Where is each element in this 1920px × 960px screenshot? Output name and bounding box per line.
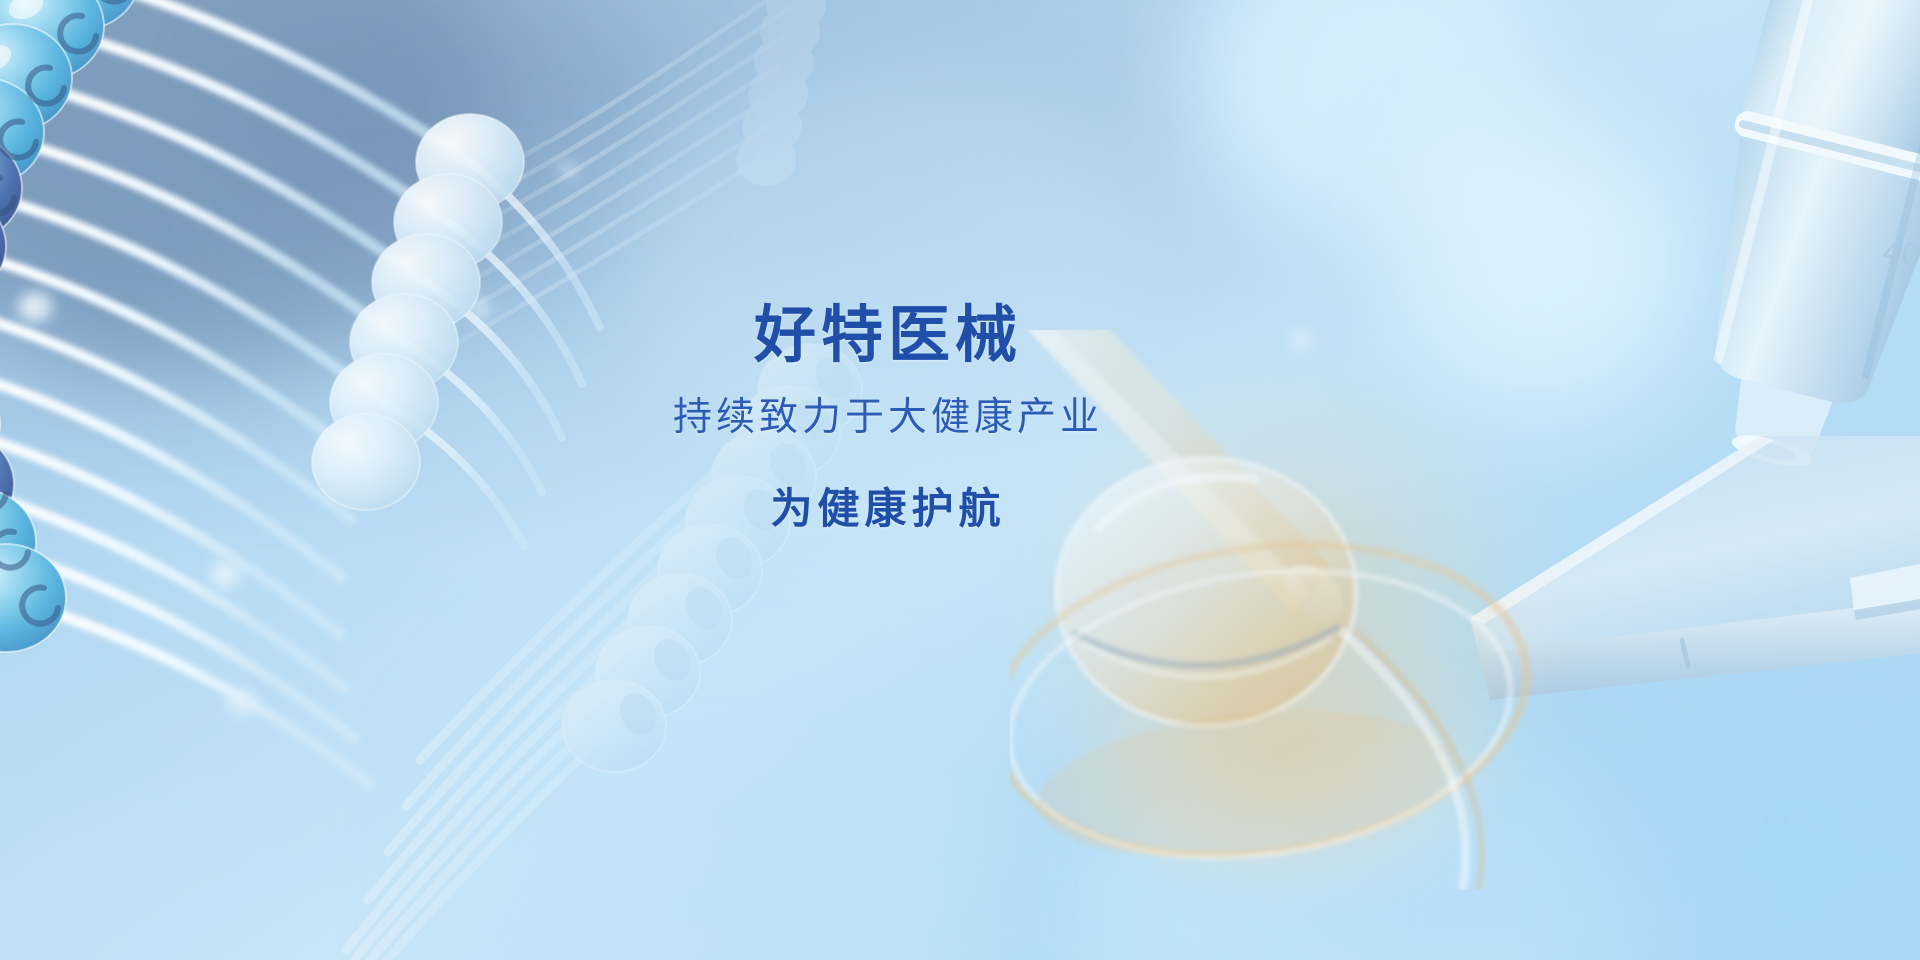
background-blob [240, 0, 660, 300]
warm-light-wash [1090, 620, 1570, 950]
bokeh-circle [228, 690, 254, 714]
objective-magnification-label: 40 [1881, 232, 1920, 275]
hero-copy-block: 好特医械 持续致力于大健康产业 为健康护航 [0, 300, 1920, 535]
page-tagline: 为健康护航 [673, 484, 1103, 534]
page-subtitle: 持续致力于大健康产业 [673, 395, 1103, 442]
background-blob [1080, 720, 1600, 960]
bokeh-circle [210, 560, 240, 588]
page-title: 好特医械 [673, 300, 1103, 369]
bokeh-circle [560, 162, 576, 177]
hero-banner: 40 [0, 0, 1920, 960]
background-blob [430, 620, 990, 960]
bokeh-circle [1190, 0, 1550, 240]
background-blob [1300, 760, 1720, 960]
